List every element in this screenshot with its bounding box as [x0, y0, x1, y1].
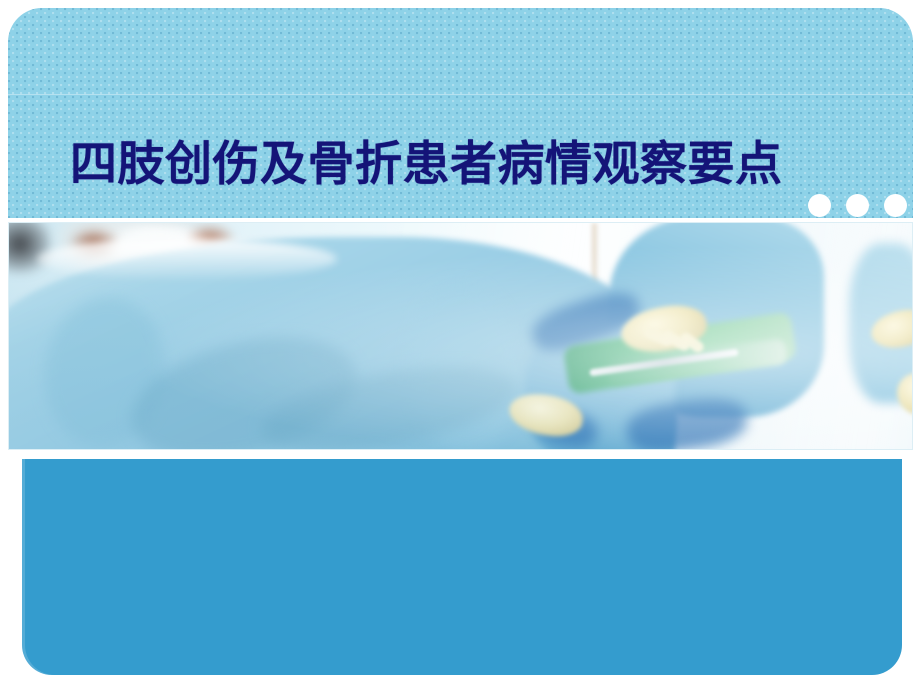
decorative-dot-icon [808, 194, 831, 217]
slide-body-panel [22, 459, 902, 675]
decorative-dot-icon [884, 194, 907, 217]
photo-gown-collar [37, 239, 337, 279]
slide-body-text [48, 477, 876, 657]
decorative-dot-icon [846, 194, 869, 217]
operating-room-surgery-photo [8, 222, 913, 450]
slide-title: 四肢创伤及骨折患者病情观察要点 [70, 139, 783, 191]
panel-seam-divider [8, 94, 913, 95]
slide-canvas: 四肢创伤及骨折患者病情观察要点 [0, 0, 920, 690]
title-panel: 四肢创伤及骨折患者病情观察要点 [8, 8, 913, 218]
